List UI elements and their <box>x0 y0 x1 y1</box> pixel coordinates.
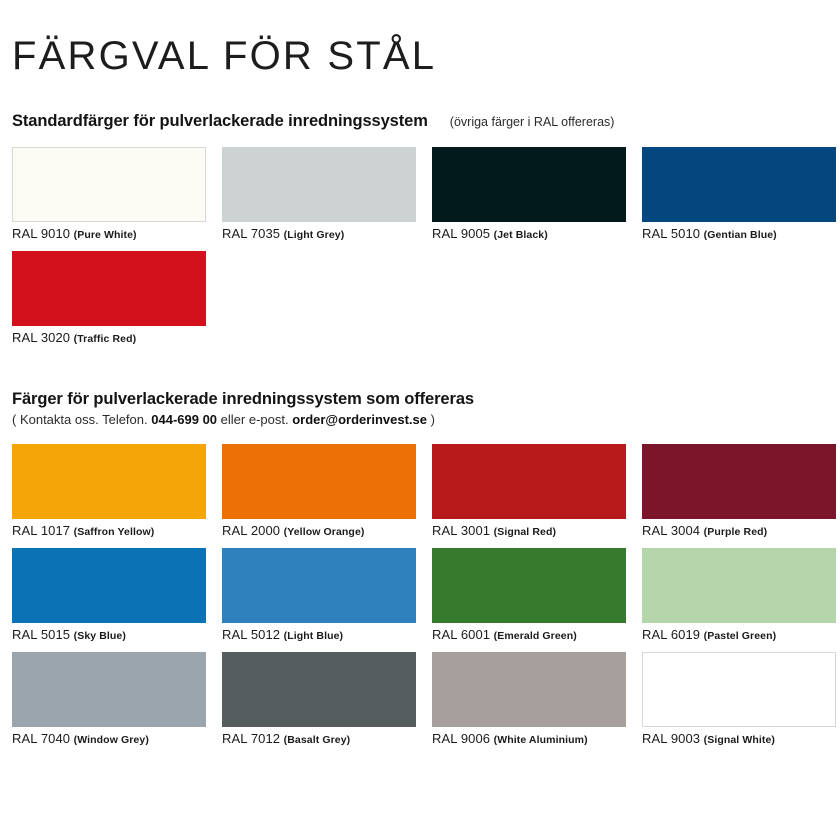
swatch-code: RAL 7040 <box>12 731 70 746</box>
swatch-color-name: (Light Grey) <box>284 229 345 241</box>
section-standard-colors: Standardfärger för pulverlackerade inred… <box>12 78 828 346</box>
swatch-code: RAL 3004 <box>642 523 700 538</box>
swatch-code: RAL 5015 <box>12 627 70 642</box>
swatch-code: RAL 2000 <box>222 523 280 538</box>
color-swatch[interactable] <box>432 548 626 623</box>
swatch-color-name: (Emerald Green) <box>494 630 577 642</box>
color-swatch[interactable] <box>642 652 836 727</box>
swatch-label: RAL 5012 (Light Blue) <box>222 627 416 644</box>
standard-section-heading: Standardfärger för pulverlackerade inred… <box>12 112 428 131</box>
swatch-code: RAL 3020 <box>12 330 70 345</box>
swatch-color-name: (Light Blue) <box>284 630 344 642</box>
swatch-label: RAL 9003 (Signal White) <box>642 731 836 748</box>
swatch-label: RAL 6001 (Emerald Green) <box>432 627 626 644</box>
offered-section-heading: Färger för pulverlackerade inredningssys… <box>12 390 828 409</box>
swatch-label: RAL 3020 (Traffic Red) <box>12 330 206 347</box>
contact-prefix: ( Kontakta oss. Telefon. <box>12 412 148 427</box>
offered-heading-block: Färger för pulverlackerade inredningssys… <box>12 346 828 427</box>
swatch-color-name: (Signal White) <box>704 734 775 746</box>
swatch-cell[interactable]: RAL 6019 (Pastel Green) <box>642 548 836 644</box>
color-swatch[interactable] <box>642 548 836 623</box>
swatch-code: RAL 9003 <box>642 731 700 746</box>
swatch-cell[interactable]: RAL 7012 (Basalt Grey) <box>222 652 416 748</box>
swatch-color-name: (Signal Red) <box>494 526 556 538</box>
standard-heading-row: Standardfärger för pulverlackerade inred… <box>12 78 828 131</box>
swatch-code: RAL 7012 <box>222 731 280 746</box>
swatch-color-name: (Purple Red) <box>704 526 768 538</box>
swatch-label: RAL 9005 (Jet Black) <box>432 226 626 243</box>
swatch-code: RAL 6001 <box>432 627 490 642</box>
swatch-color-name: (Saffron Yellow) <box>74 526 155 538</box>
swatch-label: RAL 6019 (Pastel Green) <box>642 627 836 644</box>
color-swatch[interactable] <box>642 147 836 222</box>
color-swatch[interactable] <box>12 444 206 519</box>
color-swatch[interactable] <box>222 548 416 623</box>
color-swatch[interactable] <box>642 444 836 519</box>
swatch-color-name: (Gentian Blue) <box>704 229 777 241</box>
swatch-code: RAL 1017 <box>12 523 70 538</box>
swatch-cell[interactable]: RAL 5010 (Gentian Blue) <box>642 147 836 243</box>
swatch-cell[interactable]: RAL 3020 (Traffic Red) <box>12 251 206 347</box>
swatch-code: RAL 6019 <box>642 627 700 642</box>
color-swatch[interactable] <box>432 444 626 519</box>
swatch-color-name: (White Aluminium) <box>494 734 588 746</box>
swatch-cell[interactable]: RAL 6001 (Emerald Green) <box>432 548 626 644</box>
swatch-cell[interactable]: RAL 9003 (Signal White) <box>642 652 836 748</box>
color-swatch[interactable] <box>222 147 416 222</box>
contact-phone[interactable]: 044-699 00 <box>151 412 217 427</box>
page-title: FÄRGVAL FÖR STÅL <box>12 0 828 78</box>
swatch-label: RAL 9006 (White Aluminium) <box>432 731 626 748</box>
swatch-cell[interactable]: RAL 3001 (Signal Red) <box>432 444 626 540</box>
swatch-label: RAL 3001 (Signal Red) <box>432 523 626 540</box>
swatch-code: RAL 9006 <box>432 731 490 746</box>
offered-swatch-grid: RAL 1017 (Saffron Yellow)RAL 2000 (Yello… <box>12 444 828 747</box>
color-swatch[interactable] <box>222 444 416 519</box>
swatch-cell[interactable]: RAL 9006 (White Aluminium) <box>432 652 626 748</box>
swatch-code: RAL 5010 <box>642 226 700 241</box>
color-swatch[interactable] <box>12 652 206 727</box>
swatch-color-name: (Pure White) <box>74 229 137 241</box>
swatch-label: RAL 3004 (Purple Red) <box>642 523 836 540</box>
swatch-color-name: (Traffic Red) <box>74 333 137 345</box>
swatch-color-name: (Jet Black) <box>494 229 548 241</box>
swatch-label: RAL 5015 (Sky Blue) <box>12 627 206 644</box>
swatch-cell[interactable]: RAL 5015 (Sky Blue) <box>12 548 206 644</box>
swatch-color-name: (Window Grey) <box>74 734 149 746</box>
color-swatch[interactable] <box>432 147 626 222</box>
swatch-label: RAL 7035 (Light Grey) <box>222 226 416 243</box>
color-swatch[interactable] <box>432 652 626 727</box>
color-chart-page: FÄRGVAL FÖR STÅL Standardfärger för pulv… <box>0 0 840 840</box>
swatch-cell[interactable]: RAL 9005 (Jet Black) <box>432 147 626 243</box>
swatch-code: RAL 3001 <box>432 523 490 538</box>
swatch-color-name: (Yellow Orange) <box>284 526 365 538</box>
swatch-cell[interactable]: RAL 1017 (Saffron Yellow) <box>12 444 206 540</box>
contact-email[interactable]: order@orderinvest.se <box>292 412 427 427</box>
swatch-color-name: (Basalt Grey) <box>284 734 351 746</box>
swatch-label: RAL 5010 (Gentian Blue) <box>642 226 836 243</box>
swatch-label: RAL 2000 (Yellow Orange) <box>222 523 416 540</box>
swatch-code: RAL 5012 <box>222 627 280 642</box>
contact-suffix: ) <box>431 412 435 427</box>
standard-section-note: (övriga färger i RAL offereras) <box>450 115 615 129</box>
swatch-label: RAL 7012 (Basalt Grey) <box>222 731 416 748</box>
swatch-label: RAL 1017 (Saffron Yellow) <box>12 523 206 540</box>
swatch-cell[interactable]: RAL 5012 (Light Blue) <box>222 548 416 644</box>
color-swatch[interactable] <box>12 251 206 326</box>
standard-swatch-grid: RAL 9010 (Pure White)RAL 7035 (Light Gre… <box>12 147 828 346</box>
swatch-color-name: (Pastel Green) <box>704 630 777 642</box>
swatch-label: RAL 7040 (Window Grey) <box>12 731 206 748</box>
swatch-code: RAL 7035 <box>222 226 280 241</box>
color-swatch[interactable] <box>12 548 206 623</box>
swatch-code: RAL 9005 <box>432 226 490 241</box>
swatch-code: RAL 9010 <box>12 226 70 241</box>
swatch-cell[interactable]: RAL 7035 (Light Grey) <box>222 147 416 243</box>
swatch-cell[interactable]: RAL 3004 (Purple Red) <box>642 444 836 540</box>
contact-middle: eller e-post. <box>221 412 289 427</box>
swatch-cell[interactable]: RAL 2000 (Yellow Orange) <box>222 444 416 540</box>
swatch-label: RAL 9010 (Pure White) <box>12 226 206 243</box>
color-swatch[interactable] <box>12 147 206 222</box>
swatch-color-name: (Sky Blue) <box>74 630 126 642</box>
contact-line: ( Kontakta oss. Telefon. 044-699 00 elle… <box>12 412 828 427</box>
color-swatch[interactable] <box>222 652 416 727</box>
swatch-cell[interactable]: RAL 7040 (Window Grey) <box>12 652 206 748</box>
swatch-cell[interactable]: RAL 9010 (Pure White) <box>12 147 206 243</box>
section-offered-colors: Färger för pulverlackerade inredningssys… <box>12 346 828 747</box>
